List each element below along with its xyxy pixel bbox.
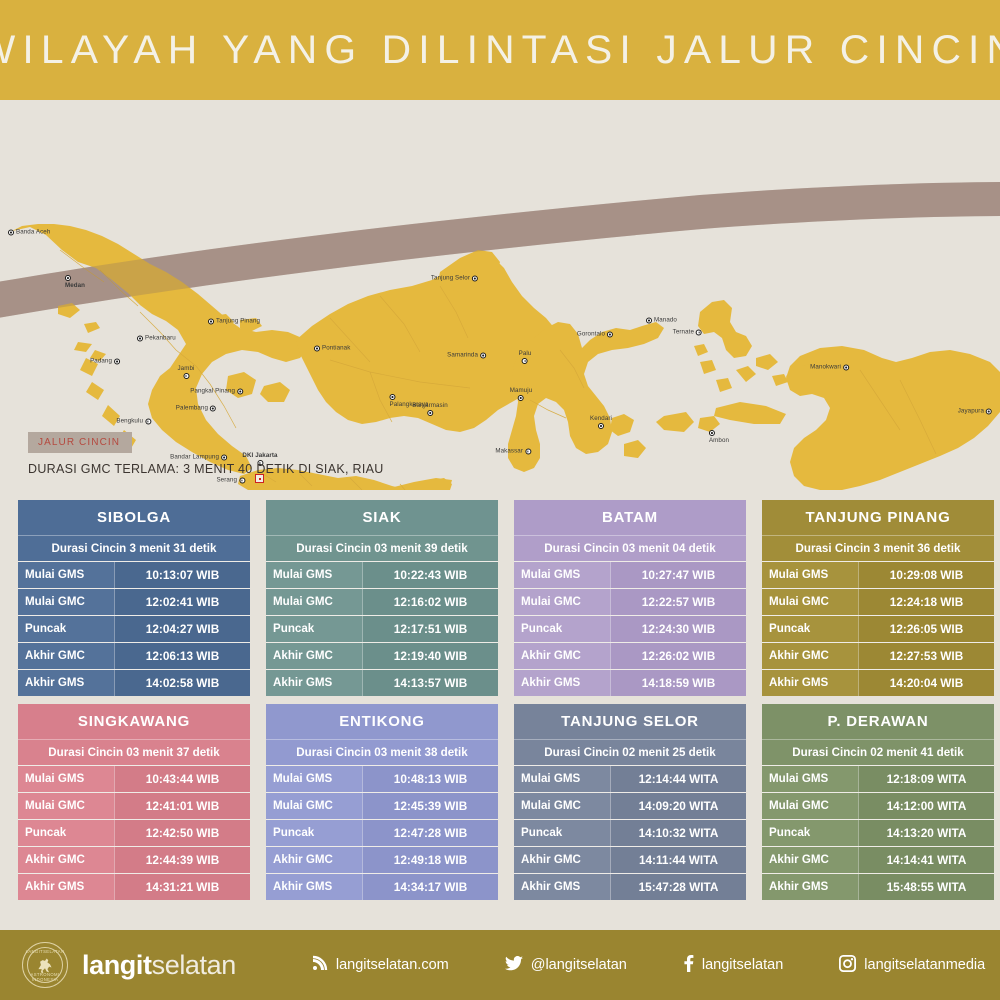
card-duration: Durasi Cincin 03 menit 37 detik: [18, 739, 250, 765]
card-city-title: SIBOLGA: [18, 500, 250, 535]
city-dot-icon: [208, 319, 214, 325]
city-name: Medan: [65, 283, 85, 289]
city-name: Ambon: [709, 438, 729, 444]
city-label: Serang: [216, 478, 245, 485]
city-name: Makassar: [495, 448, 523, 455]
card-row-value: 14:13:20 WITA: [858, 820, 994, 846]
card-row-label: Akhir GMS: [762, 874, 858, 900]
card-duration: Durasi Cincin 02 menit 25 detik: [514, 739, 746, 765]
card-row-value: 12:02:41 WIB: [114, 589, 250, 615]
header-banner: WILAYAH YANG DILINTASI JALUR CINCIN: [0, 0, 1000, 100]
city-dot-icon: [137, 336, 143, 342]
social-label: @langitselatan: [531, 957, 627, 973]
card-row-value: 14:09:20 WITA: [610, 793, 746, 819]
card-row: Mulai GMC14:09:20 WITA: [514, 792, 746, 819]
card-row-value: 12:04:27 WIB: [114, 616, 250, 642]
card-city-title: SINGKAWANG: [18, 704, 250, 739]
card-row: Mulai GMS10:43:44 WIB: [18, 765, 250, 792]
instagram-icon: [839, 955, 856, 976]
card-row: Akhir GMS14:02:58 WIB: [18, 669, 250, 696]
city-label: Jambi: [177, 366, 194, 380]
city-name: Tanjung Selor: [431, 275, 470, 282]
city-label: Makassar: [495, 449, 531, 456]
card-row: Mulai GMC14:12:00 WITA: [762, 792, 994, 819]
social-link-instagram[interactable]: langitselatanmedia: [839, 955, 985, 976]
map-legend: JALUR CINCIN DURASI GMC TERLAMA: 3 MENIT…: [28, 432, 384, 476]
card-row-value: 12:44:39 WIB: [114, 847, 250, 873]
card-duration: Durasi Cincin 3 menit 31 detik: [18, 535, 250, 561]
brand-name: langitselatan: [82, 950, 236, 981]
city-label: Kendari: [590, 416, 612, 430]
card-row: Puncak12:42:50 WIB: [18, 819, 250, 846]
city-name: Mamuju: [510, 388, 533, 394]
city-label: Samarinda: [447, 353, 486, 360]
card-city-title: TANJUNG PINANG: [762, 500, 994, 535]
card-row: Mulai GMC12:41:01 WIB: [18, 792, 250, 819]
card-row: Akhir GMC12:49:18 WIB: [266, 846, 498, 873]
card-duration: Durasi Cincin 02 menit 41 detik: [762, 739, 994, 765]
card-row-value: 12:24:18 WIB: [858, 589, 994, 615]
card-row-label: Mulai GMS: [18, 766, 114, 792]
card-row-value: 14:18:59 WIB: [610, 670, 746, 696]
card-row: Mulai GMS12:14:44 WITA: [514, 765, 746, 792]
social-link-facebook[interactable]: langitselatan: [683, 955, 783, 976]
card-row: Akhir GMC12:19:40 WIB: [266, 642, 498, 669]
card-row-value: 12:49:18 WIB: [362, 847, 498, 873]
card-row: Mulai GMS10:27:47 WIB: [514, 561, 746, 588]
card-city-title: SIAK: [266, 500, 498, 535]
card-row-value: 14:31:21 WIB: [114, 874, 250, 900]
city-name: Banda Aceh: [16, 229, 50, 236]
city-name: Jambi: [177, 366, 194, 372]
social-link-twitter[interactable]: @langitselatan: [505, 956, 627, 975]
land-bangka: [226, 372, 290, 402]
city-label: Gorontalo: [577, 332, 613, 339]
card-row-label: Mulai GMC: [266, 589, 362, 615]
card-row-value: 12:26:02 WIB: [610, 643, 746, 669]
card-row-label: Mulai GMS: [266, 562, 362, 588]
card-row-label: Mulai GMC: [514, 589, 610, 615]
card-row: Puncak12:17:51 WIB: [266, 615, 498, 642]
card-row-value: 14:14:41 WITA: [858, 847, 994, 873]
card-row-value: 14:34:17 WIB: [362, 874, 498, 900]
card-city-title: P. DERAWAN: [762, 704, 994, 739]
card-row: Akhir GMS15:48:55 WITA: [762, 873, 994, 900]
city-label: Bengkulu: [116, 419, 151, 426]
social-links: langitselatan.com@langitselatanlangitsel…: [312, 955, 985, 976]
city-dot-icon: [472, 276, 478, 282]
card-row-value: 12:26:05 WIB: [858, 616, 994, 642]
timing-card: TANJUNG SELORDurasi Cincin 02 menit 25 d…: [514, 704, 746, 900]
card-row-value: 14:12:00 WITA: [858, 793, 994, 819]
timing-card: P. DERAWANDurasi Cincin 02 menit 41 deti…: [762, 704, 994, 900]
card-row-value: 12:45:39 WIB: [362, 793, 498, 819]
city-dot-icon: [843, 365, 849, 371]
land-raja-ampat: [756, 354, 788, 386]
card-row-label: Akhir GMS: [18, 874, 114, 900]
seal-bottom-text: ASTRONOMI INDONESIA: [23, 972, 67, 982]
card-row-label: Akhir GMS: [762, 670, 858, 696]
card-row-value: 14:20:04 WIB: [858, 670, 994, 696]
city-name: Padang: [90, 358, 112, 365]
city-label: Jayapura: [958, 409, 992, 416]
card-row: Akhir GMS14:13:57 WIB: [266, 669, 498, 696]
timing-card: SIBOLGADurasi Cincin 3 menit 31 detikMul…: [18, 500, 250, 696]
city-name: Serang: [216, 477, 237, 484]
card-row-value: 14:10:32 WITA: [610, 820, 746, 846]
city-dot-icon: [598, 423, 604, 429]
card-row-value: 14:11:44 WITA: [610, 847, 746, 873]
card-row-label: Mulai GMC: [18, 589, 114, 615]
city-label: Manado: [646, 318, 677, 325]
land-sumatra-islands: [58, 303, 106, 361]
city-label: Banda Aceh: [8, 230, 50, 237]
city-dot-icon: [65, 275, 71, 281]
city-label: Ternate: [673, 330, 702, 337]
brand-name-light: selatan: [152, 950, 236, 980]
city-label: Pontianak: [314, 346, 350, 353]
card-row-label: Puncak: [514, 820, 610, 846]
card-row-value: 14:02:58 WIB: [114, 670, 250, 696]
card-row-label: Akhir GMC: [18, 847, 114, 873]
card-row-label: Puncak: [18, 616, 114, 642]
card-row-label: Akhir GMC: [514, 847, 610, 873]
card-row: Mulai GMS10:13:07 WIB: [18, 561, 250, 588]
city-name: Pekanbaru: [145, 335, 176, 342]
card-row-value: 14:13:57 WIB: [362, 670, 498, 696]
city-label: Palembang: [176, 406, 216, 413]
city-name: Pontianak: [322, 345, 350, 352]
card-row: Akhir GMC12:44:39 WIB: [18, 846, 250, 873]
seal-top-text: LANGITSELATAN: [23, 949, 67, 954]
card-row-value: 12:19:40 WIB: [362, 643, 498, 669]
brand-block: LANGITSELATAN ASTRONOMI INDONESIA langit…: [22, 942, 236, 988]
langitselatan-seal-logo: LANGITSELATAN ASTRONOMI INDONESIA: [22, 942, 68, 988]
city-dot-icon: [8, 230, 14, 236]
land-seram: [714, 402, 786, 424]
card-row: Akhir GMS14:31:21 WIB: [18, 873, 250, 900]
card-row: Akhir GMC14:14:41 WITA: [762, 846, 994, 873]
card-row: Mulai GMC12:02:41 WIB: [18, 588, 250, 615]
card-row-label: Akhir GMC: [762, 847, 858, 873]
card-row-value: 10:13:07 WIB: [114, 562, 250, 588]
city-dot-icon: [709, 430, 715, 436]
city-dot-icon: [646, 318, 652, 324]
card-row: Mulai GMS10:29:08 WIB: [762, 561, 994, 588]
legend-jalur-cincin: JALUR CINCIN: [28, 432, 132, 453]
city-name: Banjarmasin: [412, 403, 448, 409]
card-row-value: 12:16:02 WIB: [362, 589, 498, 615]
city-name: Ternate: [673, 329, 694, 336]
card-row-label: Puncak: [762, 616, 858, 642]
card-row: Puncak14:13:20 WITA: [762, 819, 994, 846]
card-row: Mulai GMC12:24:18 WIB: [762, 588, 994, 615]
city-dot-icon: [114, 359, 120, 365]
city-name: Samarinda: [447, 352, 478, 359]
facebook-icon: [683, 955, 694, 976]
card-row-label: Mulai GMS: [514, 562, 610, 588]
card-row-value: 15:48:55 WITA: [858, 874, 994, 900]
card-row: Mulai GMC12:16:02 WIB: [266, 588, 498, 615]
card-row-label: Akhir GMS: [266, 874, 362, 900]
card-row-label: Akhir GMC: [266, 643, 362, 669]
card-row: Mulai GMC12:22:57 WIB: [514, 588, 746, 615]
city-name: Jayapura: [958, 408, 984, 415]
card-row-value: 12:42:50 WIB: [114, 820, 250, 846]
card-row-value: 12:18:09 WITA: [858, 766, 994, 792]
card-row-label: Akhir GMS: [18, 670, 114, 696]
card-row-label: Puncak: [762, 820, 858, 846]
city-label: Tanjung Pinang: [208, 319, 260, 326]
city-name: Manado: [654, 317, 677, 324]
rss-icon: [312, 955, 328, 975]
city-label: Padang: [90, 359, 120, 366]
timing-card: SIAKDurasi Cincin 03 menit 39 detikMulai…: [266, 500, 498, 696]
city-dot-icon: [427, 410, 433, 416]
card-row: Mulai GMS12:18:09 WITA: [762, 765, 994, 792]
city-dot-icon: [239, 478, 245, 484]
land-sulawesi-se: [610, 414, 646, 458]
city-label: Banjarmasin: [412, 403, 448, 417]
card-row-label: Akhir GMC: [18, 643, 114, 669]
card-row-value: 12:17:51 WIB: [362, 616, 498, 642]
card-row-value: 12:06:13 WIB: [114, 643, 250, 669]
social-label: langitselatan.com: [336, 957, 449, 973]
city-label: Ambon: [709, 430, 729, 444]
city-name: Tanjung Pinang: [216, 318, 260, 325]
page-title: WILAYAH YANG DILINTASI JALUR CINCIN: [0, 28, 1000, 73]
city-dot-icon: [145, 419, 151, 425]
card-row: Puncak14:10:32 WITA: [514, 819, 746, 846]
card-row-label: Mulai GMC: [762, 793, 858, 819]
social-label: langitselatan: [702, 957, 783, 973]
card-row: Akhir GMS14:20:04 WIB: [762, 669, 994, 696]
card-row: Mulai GMC12:45:39 WIB: [266, 792, 498, 819]
card-row-value: 15:47:28 WITA: [610, 874, 746, 900]
brand-name-bold: langit: [82, 950, 152, 980]
card-row-label: Mulai GMC: [514, 793, 610, 819]
city-dot-icon: [986, 409, 992, 415]
card-row-value: 10:48:13 WIB: [362, 766, 498, 792]
city-dot-icon: [525, 449, 531, 455]
card-row: Akhir GMC14:11:44 WITA: [514, 846, 746, 873]
card-row-value: 12:41:01 WIB: [114, 793, 250, 819]
card-row: Mulai GMS10:48:13 WIB: [266, 765, 498, 792]
card-row: Akhir GMC12:26:02 WIB: [514, 642, 746, 669]
card-row: Akhir GMS14:34:17 WIB: [266, 873, 498, 900]
card-row: Akhir GMS15:47:28 WITA: [514, 873, 746, 900]
city-dot-icon: [314, 346, 320, 352]
card-row-value: 12:27:53 WIB: [858, 643, 994, 669]
card-city-title: BATAM: [514, 500, 746, 535]
card-duration: Durasi Cincin 03 menit 04 detik: [514, 535, 746, 561]
card-row: Mulai GMS10:22:43 WIB: [266, 561, 498, 588]
card-row: Akhir GMC12:27:53 WIB: [762, 642, 994, 669]
card-row-label: Mulai GMS: [514, 766, 610, 792]
city-dot-icon: [480, 353, 486, 359]
card-row-label: Puncak: [18, 820, 114, 846]
card-row: Akhir GMC12:06:13 WIB: [18, 642, 250, 669]
card-row-label: Mulai GMS: [18, 562, 114, 588]
infographic-page: WILAYAH YANG DILINTASI JALUR CINCIN: [0, 0, 1000, 1000]
card-row-value: 10:22:43 WIB: [362, 562, 498, 588]
timing-card: ENTIKONGDurasi Cincin 03 menit 38 detikM…: [266, 704, 498, 900]
card-row: Puncak12:04:27 WIB: [18, 615, 250, 642]
card-row-value: 12:24:30 WIB: [610, 616, 746, 642]
city-name: Bengkulu: [116, 418, 143, 425]
city-name: Gorontalo: [577, 331, 605, 338]
card-row-value: 10:27:47 WIB: [610, 562, 746, 588]
legend-note: DURASI GMC TERLAMA: 3 MENIT 40 DETIK DI …: [28, 462, 384, 476]
land-buru: [656, 412, 694, 432]
social-link-rss[interactable]: langitselatan.com: [312, 955, 449, 975]
card-row: Puncak12:24:30 WIB: [514, 615, 746, 642]
card-row-label: Puncak: [266, 616, 362, 642]
city-name: Palu: [519, 351, 532, 357]
card-row-label: Akhir GMS: [514, 874, 610, 900]
card-row-label: Akhir GMS: [266, 670, 362, 696]
timing-card: BATAMDurasi Cincin 03 menit 04 detikMula…: [514, 500, 746, 696]
card-row: Akhir GMS14:18:59 WIB: [514, 669, 746, 696]
card-row-label: Akhir GMS: [514, 670, 610, 696]
city-label: Palu: [519, 351, 532, 365]
city-label: Mamuju: [510, 388, 533, 402]
city-label: Medan: [65, 275, 85, 289]
card-city-title: TANJUNG SELOR: [514, 704, 746, 739]
card-duration: Durasi Cincin 03 menit 39 detik: [266, 535, 498, 561]
city-name: Manokwari: [810, 364, 841, 371]
city-dot-icon: [518, 395, 524, 401]
map-section: Banda AcehMedanTanjung PinangPekanbaruPa…: [0, 100, 1000, 490]
twitter-icon: [505, 956, 523, 975]
card-row-label: Akhir GMC: [514, 643, 610, 669]
card-row-label: Mulai GMS: [762, 766, 858, 792]
card-row-label: Puncak: [266, 820, 362, 846]
city-dot-icon: [607, 332, 613, 338]
city-dot-icon: [183, 373, 189, 379]
card-row-label: Akhir GMC: [266, 847, 362, 873]
city-name: Palembang: [176, 405, 208, 412]
card-row-label: Mulai GMS: [762, 562, 858, 588]
card-row: Puncak12:26:05 WIB: [762, 615, 994, 642]
card-row-label: Mulai GMC: [18, 793, 114, 819]
card-row-label: Mulai GMS: [266, 766, 362, 792]
card-city-title: ENTIKONG: [266, 704, 498, 739]
city-label: Pangkal Pinang: [190, 389, 243, 396]
city-dot-icon: [522, 358, 528, 364]
footer-bar: LANGITSELATAN ASTRONOMI INDONESIA langit…: [0, 930, 1000, 1000]
card-duration: Durasi Cincin 3 menit 36 detik: [762, 535, 994, 561]
card-row-label: Puncak: [514, 616, 610, 642]
city-timing-cards: SIBOLGADurasi Cincin 3 menit 31 detikMul…: [0, 500, 1000, 900]
city-name: Pangkal Pinang: [190, 388, 235, 395]
timing-card: TANJUNG PINANGDurasi Cincin 3 menit 36 d…: [762, 500, 994, 696]
card-row-value: 12:47:28 WIB: [362, 820, 498, 846]
city-name: Kendari: [590, 416, 612, 422]
card-row-label: Mulai GMC: [762, 589, 858, 615]
card-row-label: Mulai GMC: [266, 793, 362, 819]
city-label: Manokwari: [810, 365, 849, 372]
social-label: langitselatanmedia: [864, 957, 985, 973]
city-dot-icon: [237, 389, 243, 395]
card-row: Puncak12:47:28 WIB: [266, 819, 498, 846]
city-label: Tanjung Selor: [431, 276, 478, 283]
card-duration: Durasi Cincin 03 menit 38 detik: [266, 739, 498, 765]
card-row-value: 10:29:08 WIB: [858, 562, 994, 588]
card-row-value: 12:14:44 WITA: [610, 766, 746, 792]
card-row-value: 12:22:57 WIB: [610, 589, 746, 615]
city-dot-icon: [389, 394, 395, 400]
city-dot-icon: [210, 406, 216, 412]
city-label: Pekanbaru: [137, 336, 176, 343]
city-dot-icon: [696, 330, 702, 336]
card-row-label: Akhir GMC: [762, 643, 858, 669]
timing-card: SINGKAWANGDurasi Cincin 03 menit 37 deti…: [18, 704, 250, 900]
card-row-value: 10:43:44 WIB: [114, 766, 250, 792]
